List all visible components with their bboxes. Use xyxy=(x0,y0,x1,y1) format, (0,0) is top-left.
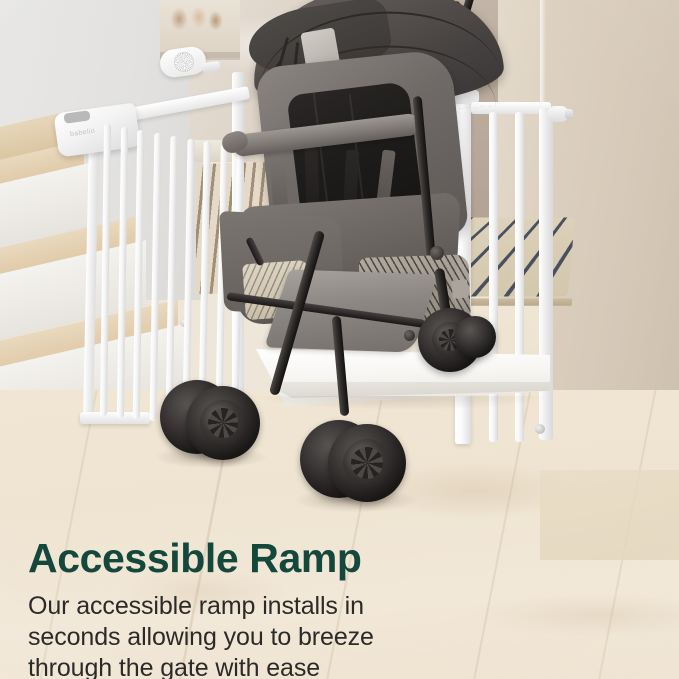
stroller-basket-tag xyxy=(451,279,469,299)
stroller-front-right-spokes xyxy=(351,447,383,479)
product-lifestyle-image: babelio xyxy=(0,0,679,679)
subcopy-line-3: through the gate with ease xyxy=(28,653,498,679)
subcopy: Our accessible ramp installs in seconds … xyxy=(28,591,498,679)
headline: Accessible Ramp xyxy=(28,534,498,582)
stroller-front-left-spokes xyxy=(208,408,238,438)
stroller-rear-wheel-2 xyxy=(454,316,496,358)
subcopy-line-1: Our accessible ramp installs in xyxy=(28,591,498,622)
stroller-frame-joint xyxy=(430,246,444,260)
marketing-copy-block: Accessible Ramp Our accessible ramp inst… xyxy=(28,534,498,679)
subcopy-line-2: seconds allowing you to breeze xyxy=(28,622,498,653)
stroller-frame-joint-2 xyxy=(404,330,415,341)
